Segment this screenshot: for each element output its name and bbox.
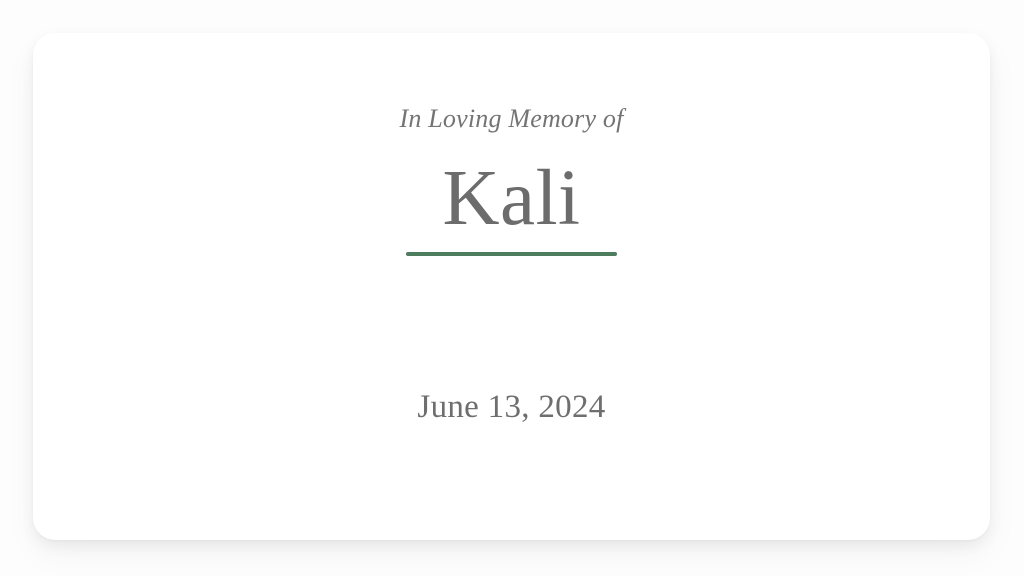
memorial-name-heading: Kali: [442, 158, 580, 240]
memorial-page: In Loving Memory of Kali June 13, 2024: [0, 0, 1024, 576]
memorial-eyebrow-text: In Loving Memory of: [33, 103, 990, 134]
memorial-name-block: Kali: [33, 158, 990, 256]
memorial-header: In Loving Memory of Kali: [33, 103, 990, 256]
memorial-date-text: June 13, 2024: [33, 388, 990, 428]
memorial-card: In Loving Memory of Kali June 13, 2024: [33, 33, 990, 540]
memorial-card-content: In Loving Memory of Kali June 13, 2024: [33, 33, 990, 540]
memorial-accent-rule: [406, 252, 617, 256]
memorial-date-block: June 13, 2024: [33, 388, 990, 428]
